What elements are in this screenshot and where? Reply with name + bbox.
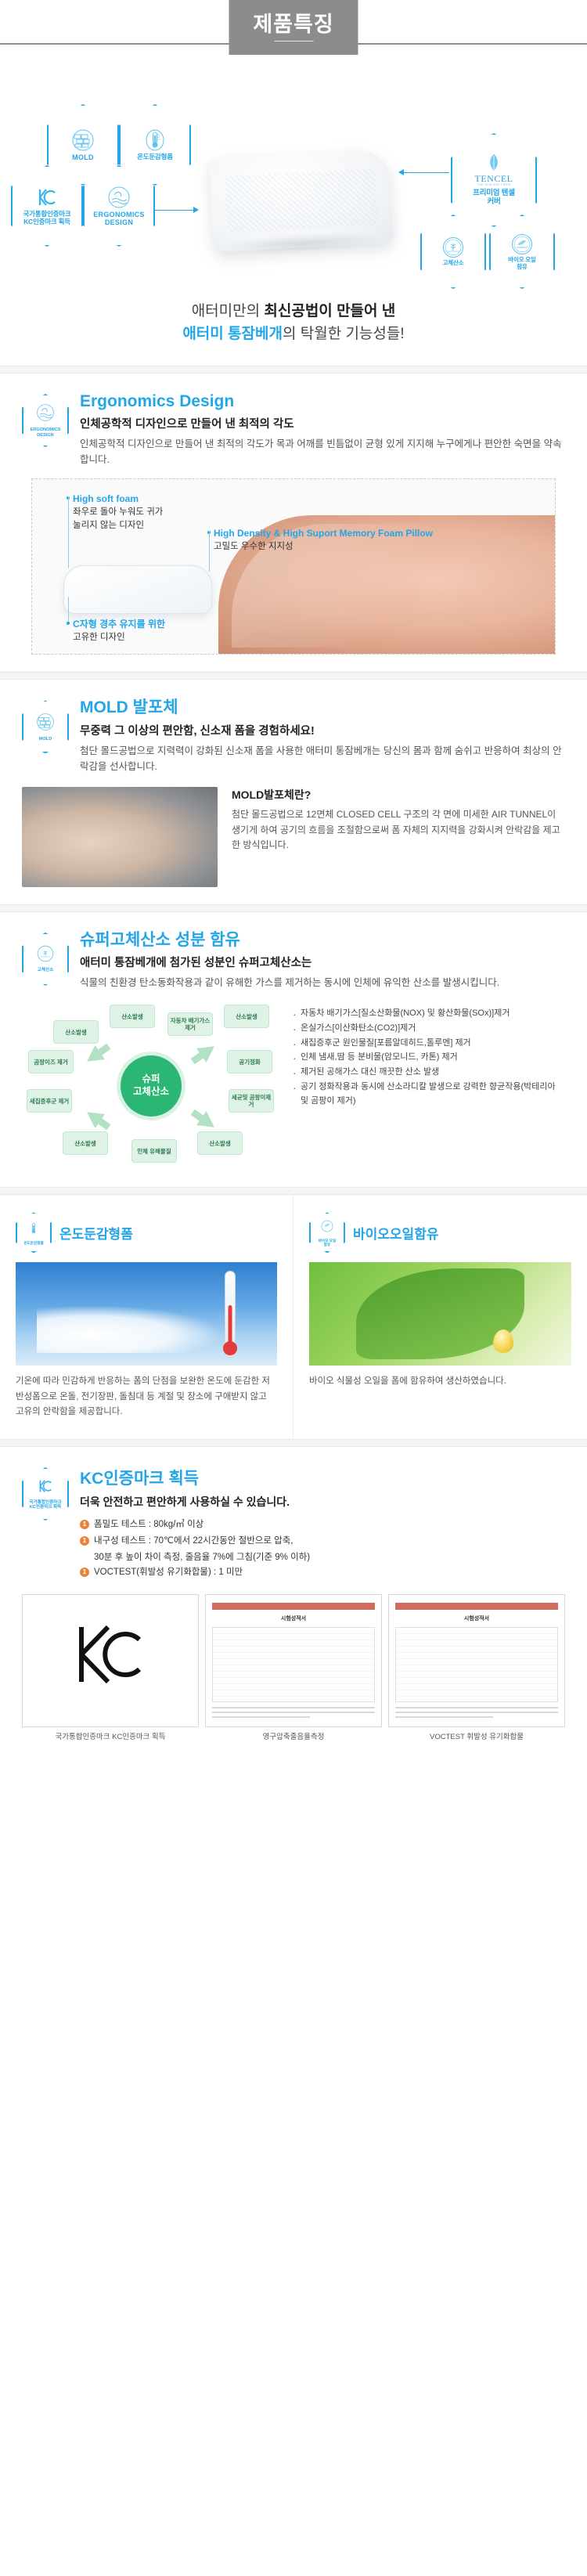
mold-photo-title: MOLD발포체란? bbox=[232, 787, 565, 803]
arrow-right-to-pillow-line bbox=[404, 172, 449, 173]
kc-bullet-icon: 1 bbox=[80, 1520, 89, 1529]
ergonomics-icon bbox=[36, 403, 55, 426]
certificate-kc-caption: 국가통합인증마크 KC인증마크 획득 bbox=[22, 1733, 199, 1742]
headline-line-2: 애터미 통잠베개의 탁월한 기능성들! bbox=[0, 323, 587, 346]
sky-thermometer-photo bbox=[16, 1262, 277, 1366]
certificate-kc-mark: 국가통합인증마크 KC인증마크 획득 bbox=[22, 1594, 199, 1742]
arrow-right-to-pillow-head bbox=[398, 169, 404, 175]
certificate-voc-image: 시험성적서 bbox=[388, 1594, 565, 1727]
callout-c-curve-title: C자형 경추 유지를 위한 bbox=[73, 619, 245, 631]
badge-oxygen-label: 고체산소 bbox=[443, 260, 464, 267]
certificate-gallery: 국가통합인증마크 KC인증마크 획득 시험성적서 영구압축줄음율측정 bbox=[22, 1594, 565, 1742]
tencel-brand-sub: THE NEW AGE FIBER bbox=[477, 183, 510, 186]
oxygen-bullet-5: 공기 정화작용과 동시에 산소라디칼 발생으로 강력한 향균작용(박테리아 및 … bbox=[293, 1080, 565, 1109]
certificate-voc-caption: VOCTEST 휘발성 유기화합물 bbox=[388, 1733, 565, 1742]
callout-line-3 bbox=[68, 597, 69, 622]
headline-line2-plain: 의 탁월한 기능성들! bbox=[283, 326, 405, 342]
oxy-leaf-icon bbox=[82, 1106, 113, 1135]
page-title-band: 제품특징 bbox=[0, 0, 587, 61]
oxy-leaf-icon bbox=[188, 1106, 219, 1135]
callout-high-density-text: 고밀도 우수한 지지성 bbox=[214, 540, 527, 554]
badge-tencel: TENCEL THE NEW AGE FIBER 프리미엄 텐셀 커버 bbox=[451, 133, 537, 227]
kc-item-0-text: 폼밀도 테스트 : 80kg/㎥ 이상 bbox=[94, 1517, 203, 1532]
super-oxygen-seal-icon bbox=[442, 236, 464, 258]
section-mold-title: MOLD 발포체 bbox=[80, 698, 565, 717]
thermometer-graphic bbox=[225, 1271, 236, 1358]
section-ergonomics-badge: ERGONOMICS DESIGN bbox=[22, 394, 69, 447]
section-oxygen-body: 식물의 친환경 탄소동화작용과 같이 유해한 가스를 제거하는 동시에 인체에 … bbox=[80, 975, 565, 990]
mold-foam-hand-photo bbox=[22, 787, 218, 887]
tencel-brand-word: TENCEL bbox=[475, 174, 513, 183]
oxy-node-2: 산소발생 bbox=[224, 1005, 269, 1028]
kc-mark-icon bbox=[37, 1477, 54, 1499]
brick-mold-icon bbox=[71, 128, 95, 152]
hero-badge-cluster: MOLD 온도 bbox=[0, 61, 587, 296]
section-ergonomics-badge-label: ERGONOMICS DESIGN bbox=[31, 428, 61, 438]
kc-item-1: 1 내구성 테스트 : 70℃에서 22시간동안 절반으로 압축, bbox=[80, 1534, 565, 1549]
document-header-bar bbox=[212, 1603, 375, 1610]
section-kc-lead: 더욱 안전하고 편안하게 사용하실 수 있습니다. bbox=[80, 1494, 565, 1510]
product-feature-page: 제품특징 MOLD bbox=[0, 0, 587, 1770]
bio-oil-seal-icon bbox=[320, 1218, 334, 1238]
oxy-leaf-icon bbox=[188, 1040, 219, 1070]
headline-line1-plain: 애터미만의 bbox=[192, 303, 265, 319]
badge-tencel-label: 프리미엄 텐셀 커버 bbox=[473, 189, 515, 207]
badge-kc: 국가통합인증마크 KC인증마크 획득 bbox=[11, 165, 83, 247]
pillow-product-photo bbox=[209, 149, 394, 252]
kc-item-0: 1 폼밀도 테스트 : 80kg/㎥ 이상 bbox=[80, 1517, 565, 1532]
oxygen-bullet-4: 제거된 공해가스 대신 깨끗한 산소 발생 bbox=[293, 1065, 565, 1080]
section-kc-badge-label: 국가통합인증마크 KC인증마크 획득 bbox=[29, 1500, 61, 1510]
section-ergonomics-body: 인체공학적 디자인으로 만들어 낸 최적의 각도가 목과 어깨를 빈틈없이 균형… bbox=[80, 436, 565, 467]
section-kc-badge: 국가통합인증마크 KC인증마크 획득 bbox=[22, 1467, 69, 1521]
oxy-node-1: 자동차 배기가스 제거 bbox=[167, 1012, 213, 1036]
section-oxygen: 고체산소 슈퍼고체산소 성분 함유 애터미 통잠베개에 첨가된 성분인 슈퍼고체… bbox=[0, 912, 587, 1187]
thermometer-icon bbox=[144, 128, 166, 152]
section-separator-1 bbox=[0, 366, 587, 373]
document-header-bar bbox=[395, 1603, 558, 1610]
section-kc: 국가통합인증마크 KC인증마크 획득 KC인증마크 획득 더욱 안전하고 편안하… bbox=[0, 1447, 587, 1759]
oxygen-bullet-1: 온실가스[이산화탄소(CO2)]제거 bbox=[293, 1021, 565, 1036]
kc-item-3-text: VOCTEST(휘발성 유기화합물) : 1 미만 bbox=[94, 1565, 243, 1580]
thermometer-icon bbox=[27, 1221, 41, 1240]
section-mold-badge: MOLD bbox=[22, 700, 69, 753]
document-table bbox=[395, 1627, 558, 1702]
brick-mold-icon bbox=[36, 713, 55, 735]
tencel-leaf-icon bbox=[486, 153, 502, 172]
oxygen-center-label: 슈퍼 고체산소 bbox=[121, 1055, 182, 1117]
callout-high-soft-foam: High soft foam 좌우로 돌아 누워도 귀가 눌리지 않는 디자인 bbox=[73, 493, 229, 532]
section-oxygen-title: 슈퍼고체산소 성분 함유 bbox=[80, 931, 565, 950]
headline-line2-bold: 애터미 통잠베개 bbox=[182, 326, 283, 342]
section-separator-3 bbox=[0, 904, 587, 912]
certificate-kc-image bbox=[22, 1594, 199, 1727]
kc-item-3: 1 VOCTEST(휘발성 유기화합물) : 1 미만 bbox=[80, 1565, 565, 1580]
badge-bio-oil-label: 바이오 오일 함유 bbox=[508, 257, 535, 270]
hero-headline: 애터미만의 최신공법이 만들어 낸 애터미 통잠베개의 탁월한 기능성들! bbox=[0, 296, 587, 366]
oxy-node-5: 산소발생 bbox=[53, 1020, 99, 1044]
section-mold-subtitle: 무중력 그 이상의 편안함, 신소재 폼을 경험하세요! bbox=[80, 723, 565, 739]
kc-logo-icon bbox=[67, 1619, 153, 1702]
headline-line1-bold: 최신공법이 만들어 낸 bbox=[264, 303, 395, 319]
section-ergonomics-title: Ergonomics Design bbox=[80, 392, 565, 411]
oxy-leaf-icon bbox=[82, 1040, 113, 1070]
section-mold: MOLD MOLD 발포체 무중력 그 이상의 편안함, 신소재 폼을 경험하세… bbox=[0, 680, 587, 904]
ergonomics-icon bbox=[107, 186, 131, 209]
badge-oxygen: 고체산소 bbox=[420, 215, 486, 289]
callout-dot-icon bbox=[67, 622, 70, 625]
section-two-features: 온도둔감형폼 온도둔감형폼 기온에 따라 민감하게 반응하는 폼의 단점을 보완… bbox=[0, 1195, 587, 1439]
section-separator-2 bbox=[0, 672, 587, 680]
callout-high-density-title: High Density & High Suport Memory Foam P… bbox=[214, 528, 527, 540]
feature-temp-foam: 온도둔감형폼 온도둔감형폼 기온에 따라 민감하게 반응하는 폼의 단점을 보완… bbox=[0, 1195, 293, 1439]
oxy-node-8: 산소발생 bbox=[63, 1131, 108, 1155]
arrow-left-to-pillow-line bbox=[153, 210, 194, 211]
oxy-node-3: 곰팡이즈 제거 bbox=[28, 1050, 74, 1073]
title-underline bbox=[274, 41, 313, 41]
certificate-test-caption: 영구압축줄음율측정 bbox=[205, 1733, 382, 1742]
kc-bullet-icon: 1 bbox=[80, 1536, 89, 1546]
certificate-test-doc-title: 시험성적서 bbox=[212, 1615, 375, 1622]
feature-bio-oil-badge-label: 바이오 오일 함유 bbox=[319, 1239, 336, 1247]
section-mold-badge-label: MOLD bbox=[39, 737, 52, 742]
kc-mark-icon bbox=[35, 186, 59, 209]
feature-temp-foam-title: 온도둔감형폼 bbox=[59, 1223, 133, 1243]
oxy-node-4: 공기정화 bbox=[227, 1050, 272, 1073]
oxy-node-10: 산소발생 bbox=[197, 1131, 243, 1155]
callout-line-2 bbox=[209, 531, 210, 572]
document-table bbox=[212, 1627, 375, 1702]
feature-bio-oil: 바이오 오일 함유 바이오오일함유 바이오 식물성 오일을 폼에 함유하여 생산… bbox=[293, 1195, 587, 1439]
oxygen-benefit-list: 자동차 배기가스[질소산화물(NOX) 및 황산화물(SOx)]제거 온실가스[… bbox=[293, 1001, 565, 1109]
feature-temp-foam-badge-label: 온도둔감형폼 bbox=[23, 1241, 43, 1246]
page-bottom-padding bbox=[0, 1759, 587, 1770]
bio-oil-seal-icon bbox=[511, 233, 533, 255]
badge-bio-oil: 바이오 오일 함유 bbox=[489, 215, 555, 289]
callout-c-curve: C자형 경추 유지를 위한 고유한 디자인 bbox=[73, 619, 245, 644]
badge-kc-label: 국가통합인증마크 KC인증마크 획득 bbox=[23, 211, 71, 226]
super-oxygen-seal-icon bbox=[37, 945, 54, 966]
section-oxygen-badge: 고체산소 bbox=[22, 933, 69, 986]
badge-mold-label: MOLD bbox=[72, 153, 94, 161]
mold-photo-body: 첨단 몰드공법으로 12면체 CLOSED CELL 구조의 각 면에 미세한 … bbox=[232, 807, 565, 853]
oxy-node-0: 산소발생 bbox=[110, 1005, 155, 1028]
kc-test-list: 1 폼밀도 테스트 : 80kg/㎥ 이상 1 내구성 테스트 : 70℃에서 … bbox=[80, 1517, 565, 1580]
callout-line-1 bbox=[68, 496, 69, 568]
oxygen-bullet-2: 새집증후군 원인물질[포름알데히드,톨루엔] 제거 bbox=[293, 1036, 565, 1051]
section-ergonomics: ERGONOMICS DESIGN Ergonomics Design 인체공학… bbox=[0, 373, 587, 672]
certificate-test-report: 시험성적서 영구압축줄음율측정 bbox=[205, 1594, 382, 1742]
kc-item-2-text: 30분 후 높이 차이 측정, 줄음율 7%에 그침(기준 9% 이하) bbox=[80, 1550, 565, 1565]
badge-ergonomics: ERGONOMICS DESIGN bbox=[83, 165, 155, 247]
certificate-test-image: 시험성적서 bbox=[205, 1594, 382, 1727]
feature-bio-oil-title: 바이오오일함유 bbox=[353, 1223, 438, 1243]
document-lines: 시험성적서 bbox=[395, 1603, 558, 1719]
page-title: 제품특징 bbox=[253, 14, 333, 41]
callout-high-density: High Density & High Suport Memory Foam P… bbox=[214, 528, 527, 553]
kc-item-1-text: 내구성 테스트 : 70℃에서 22시간동안 절반으로 압축, bbox=[94, 1534, 293, 1549]
callout-c-curve-text: 고유한 디자인 bbox=[73, 631, 245, 644]
green-leaf-oil-photo bbox=[309, 1262, 571, 1366]
document-lines: 시험성적서 bbox=[212, 1603, 375, 1719]
section-oxygen-subtitle: 애터미 통잠베개에 첨가된 성분인 슈퍼고체산소는 bbox=[80, 955, 565, 971]
callout-high-soft-foam-title: High soft foam bbox=[73, 493, 229, 506]
feature-temp-foam-body: 기온에 따라 민감하게 반응하는 폼의 단점을 보완한 온도에 둔감한 저반성폼… bbox=[16, 1374, 277, 1420]
section-kc-title: KC인증마크 획득 bbox=[80, 1466, 565, 1489]
feature-bio-oil-badge: 바이오 오일 함유 bbox=[309, 1212, 345, 1253]
section-ergonomics-subtitle: 인체공학적 디자인으로 만들어 낸 최적의 각도 bbox=[80, 417, 565, 432]
oxy-node-9: 인체 유해물질 bbox=[131, 1139, 177, 1163]
oxy-node-7: 세균및 곰팡이제거 bbox=[229, 1089, 274, 1113]
section-oxygen-badge-label: 고체산소 bbox=[38, 968, 54, 973]
page-title-box: 제품특징 bbox=[229, 0, 358, 55]
feature-bio-oil-body: 바이오 식물성 오일을 폼에 함유하여 생산하였습니다. bbox=[309, 1374, 571, 1390]
callout-high-soft-foam-text: 좌우로 돌아 누워도 귀가 눌리지 않는 디자인 bbox=[73, 506, 229, 532]
oxygen-bullet-3: 인체 냄새,땀 등 분비물(암모니드, 카톤) 제거 bbox=[293, 1050, 565, 1065]
certificate-voc-report: 시험성적서 VOCTEST 휘발성 유기화합물 bbox=[388, 1594, 565, 1742]
badge-temp-foam-label: 온도둔감형폼 bbox=[137, 153, 173, 161]
oxygen-cycle-diagram: 슈퍼 고체산소 산소발생 자동차 배기가스 제거 산소발생 곰팡이즈 제거 공기… bbox=[22, 1001, 280, 1170]
certificate-voc-doc-title: 시험성적서 bbox=[395, 1615, 558, 1622]
ergonomics-illustration: High soft foam 좌우로 돌아 누워도 귀가 눌리지 않는 디자인 … bbox=[31, 478, 556, 655]
oxy-node-6: 새집증후군 제거 bbox=[27, 1089, 72, 1113]
section-mold-body: 첨단 몰드공법으로 지력력이 강화된 신소재 폼을 사용한 애터미 통잠베개는 … bbox=[80, 743, 565, 774]
pillow-cross-section bbox=[63, 565, 212, 614]
section-separator-5 bbox=[0, 1439, 587, 1447]
headline-line-1: 애터미만의 최신공법이 만들어 낸 bbox=[0, 301, 587, 323]
arrow-left-to-pillow-head bbox=[193, 207, 199, 213]
feature-temp-foam-badge: 온도둔감형폼 bbox=[16, 1212, 52, 1253]
badge-ergonomics-label: ERGONOMICS DESIGN bbox=[93, 211, 145, 227]
section-separator-4 bbox=[0, 1187, 587, 1195]
kc-bullet-icon: 1 bbox=[80, 1568, 89, 1577]
oxygen-bullet-0: 자동차 배기가스[질소산화물(NOX) 및 황산화물(SOx)]제거 bbox=[293, 1006, 565, 1021]
